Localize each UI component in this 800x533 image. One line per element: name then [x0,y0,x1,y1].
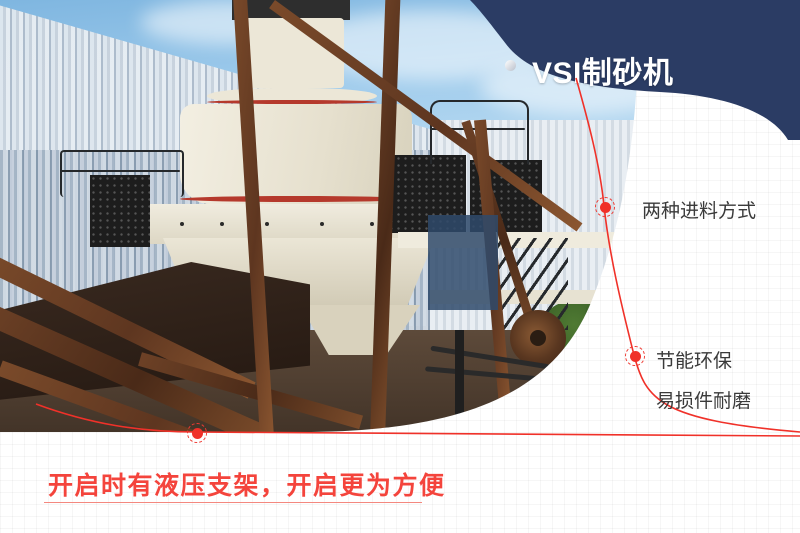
motor-pulley-hub [530,330,546,346]
hydraulic-cylinder [455,330,464,420]
handrail [60,150,184,197]
banner-title: VSI制砂机 [532,48,673,92]
red-dot-marker-icon [192,428,203,439]
bottom-caption-underline [44,502,422,503]
machine-bolt [220,222,224,226]
machine-bolt [180,222,184,226]
callout-label-energy-2: 易损件耐磨 [656,386,751,413]
promo-image-canvas: VSI制砂机 两种进料方式 节能环保 易损件耐磨 开启时有液压支架，开启更为方便 [0,0,800,533]
machine-rotor-drum [180,104,412,204]
title-banner: VSI制砂机 [470,0,800,140]
bottom-caption: 开启时有液压支架，开启更为方便 [48,466,446,502]
equipment-panel [428,215,498,310]
callout-marker-feeding[interactable] [595,197,615,217]
callout-label-feeding: 两种进料方式 [642,196,756,223]
red-dot-marker-icon [630,351,641,362]
machine-bolt [265,222,269,226]
machine-bolt [320,222,324,226]
machine-bolt [370,222,374,226]
callout-label-energy-1: 节能环保 [656,346,732,373]
bullet-dot-icon [505,60,516,71]
handrail [60,170,180,172]
machine-feed-chute [240,18,344,88]
machine-red-band-lower [180,196,412,202]
callout-marker-energy[interactable] [625,346,645,366]
red-dot-marker-icon [600,202,611,213]
callout-marker-bottom[interactable] [187,423,207,443]
